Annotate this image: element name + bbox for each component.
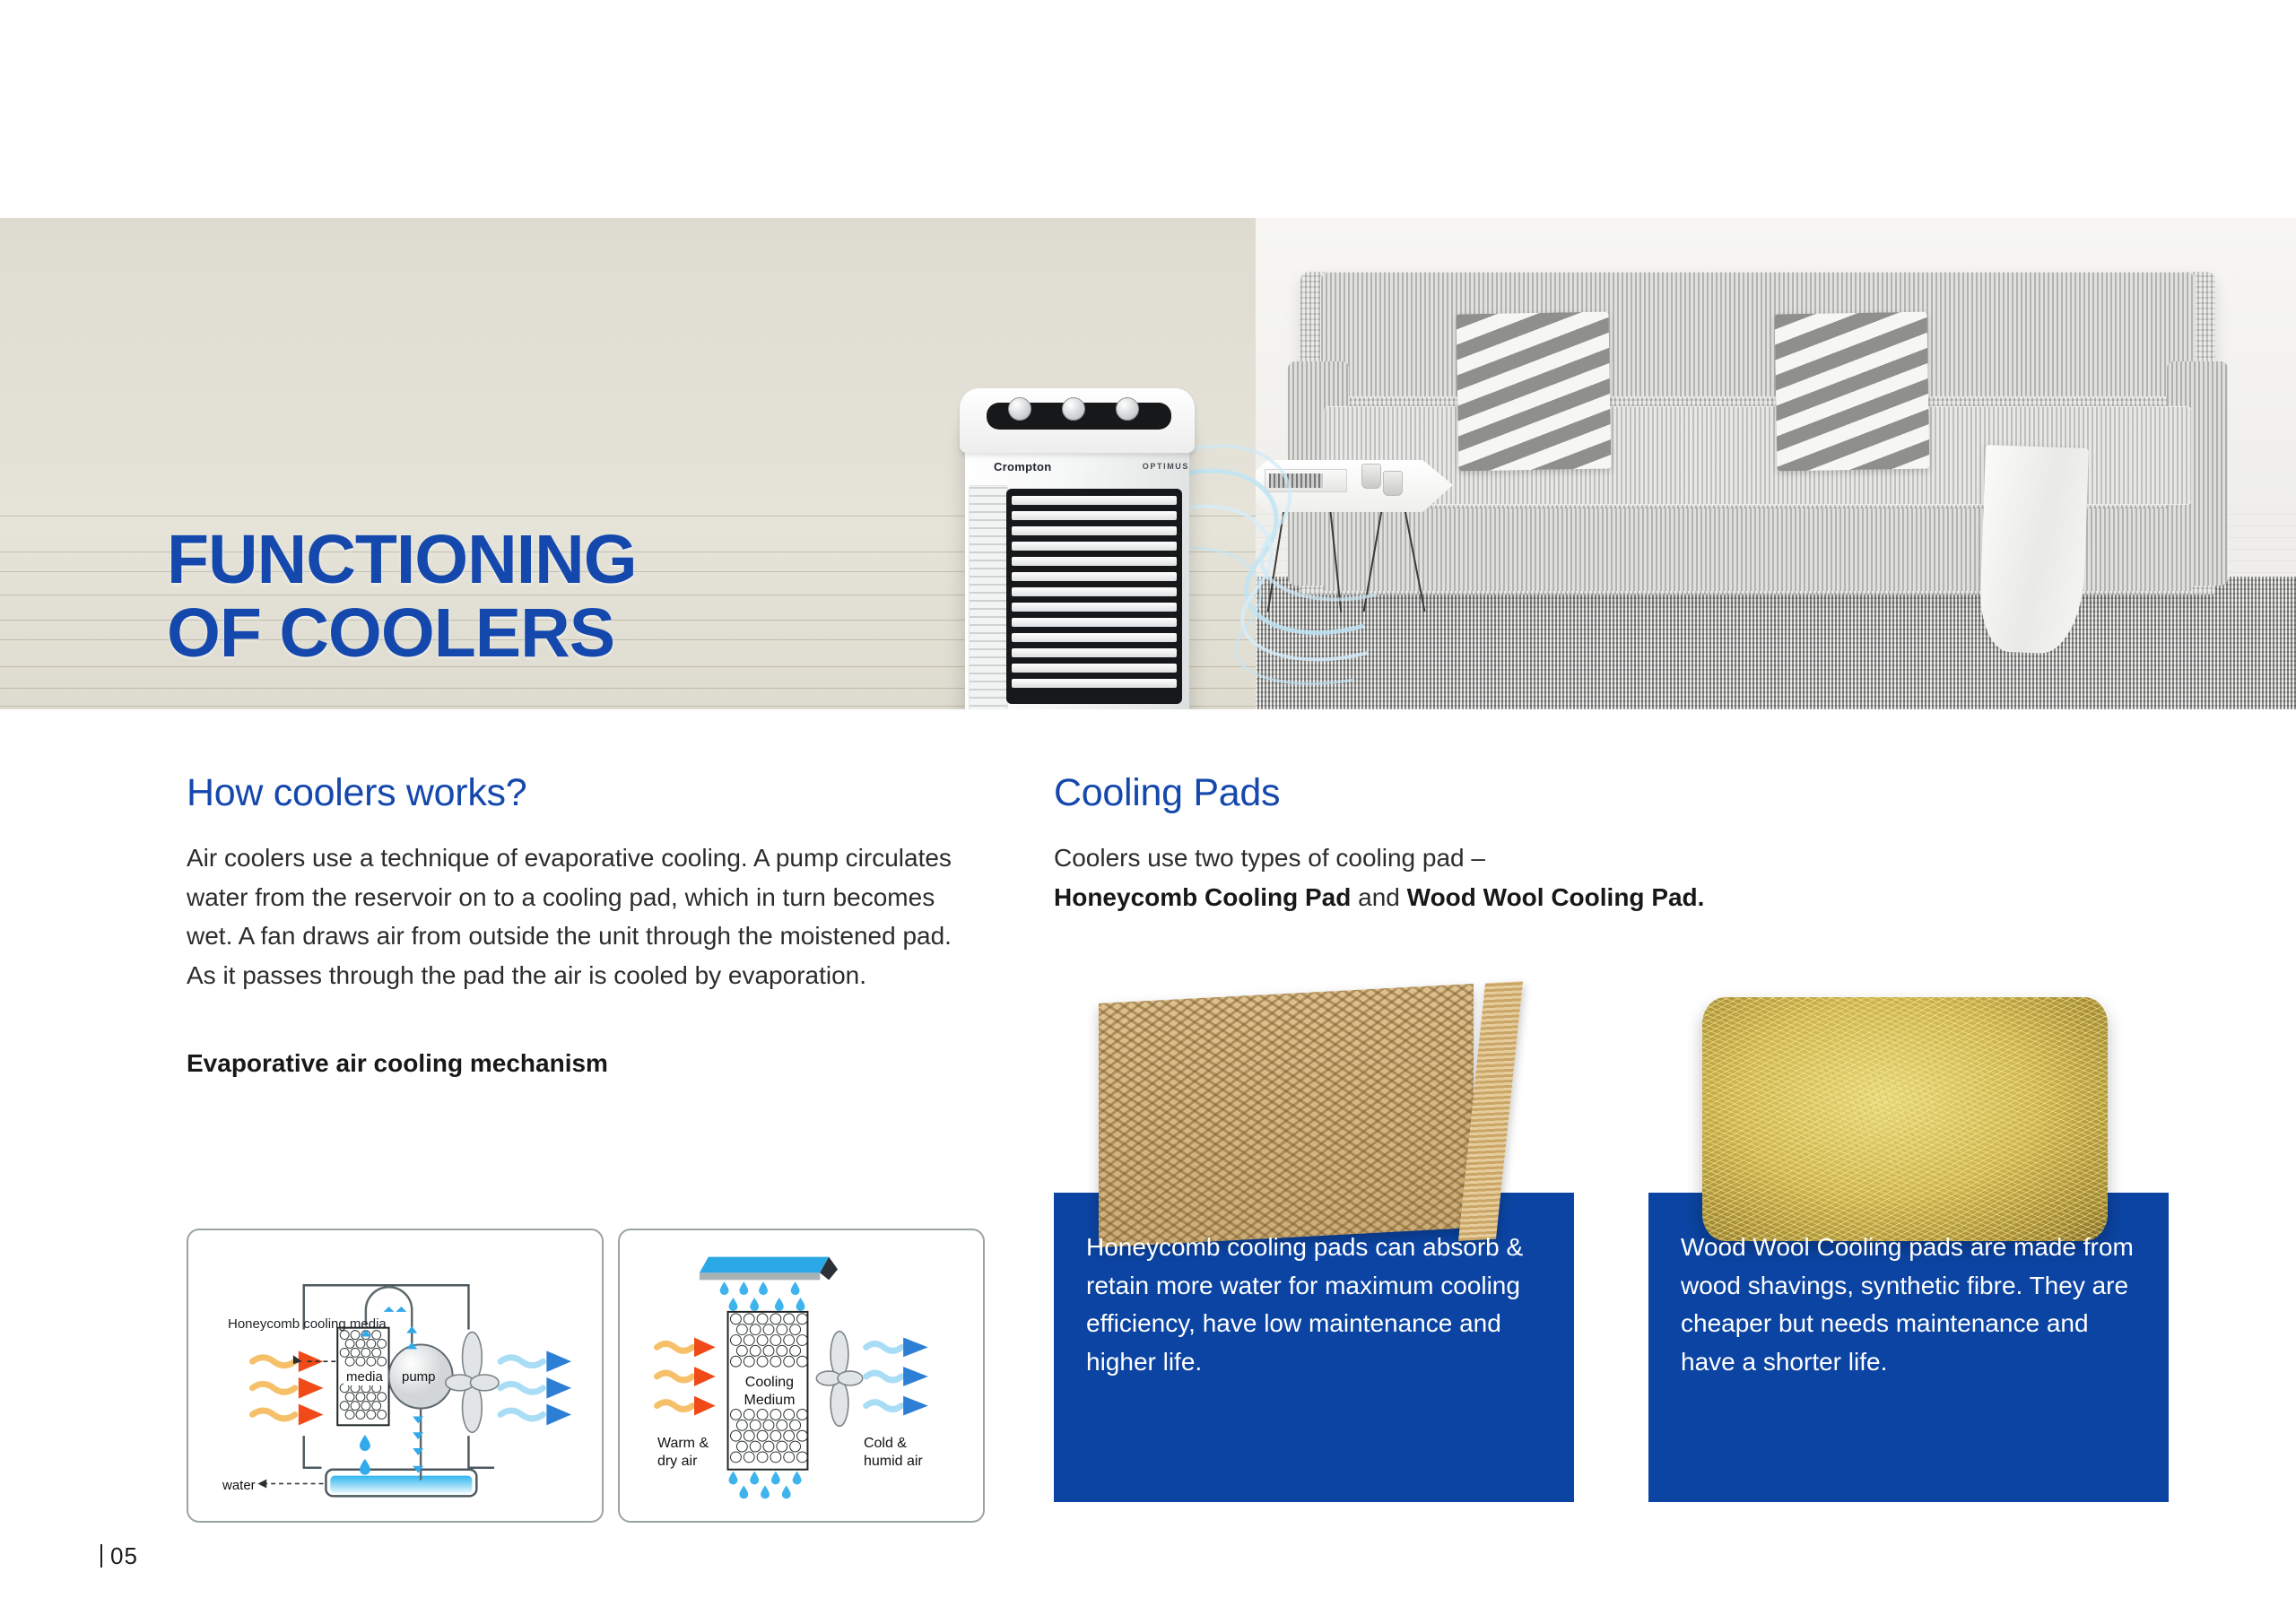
magazine	[1265, 469, 1347, 492]
cooler-grille	[1006, 489, 1182, 704]
evaporative-mechanism-subheading: Evaporative air cooling mechanism	[187, 1049, 967, 1078]
control-knob	[1008, 397, 1031, 421]
diagram-label-cold-humid-air: Cold & humid air	[864, 1435, 923, 1471]
sofa	[1300, 272, 2215, 595]
wood-wool-pad-type-label: Wood Wool Cooling Pad.	[1407, 883, 1705, 911]
living-room-photo	[1256, 218, 2296, 709]
page-number: 05	[100, 1542, 138, 1570]
page-title-line2: OF COOLERS	[167, 595, 614, 672]
cooling-medium-diagram: Cooling Medium Warm & dry air Cold & hum…	[618, 1229, 985, 1523]
diagram-group: Honeycomb cooling media media pump water	[187, 1229, 985, 1524]
honeycomb-pad-caption: Honeycomb cooling pads can absorb & reta…	[1086, 1229, 1549, 1381]
how-coolers-work-paragraph: Air coolers use a technique of evaporati…	[187, 838, 967, 995]
chevron-cushion	[1774, 312, 1929, 472]
diagram-label-cooling-medium: Cooling Medium	[738, 1374, 801, 1409]
cooling-pads-intro: Coolers use two types of cooling pad –	[1054, 838, 2193, 878]
honeycomb-cooling-pad-photo	[1091, 977, 1540, 1264]
evaporative-cooling-diagram: Honeycomb cooling media media pump water	[187, 1229, 604, 1523]
product-model-label: OPTIMUS	[1143, 462, 1189, 471]
wood-wool-cooling-pad-photo	[1686, 977, 2135, 1264]
diagram-label-honeycomb-cooling-media: Honeycomb cooling media	[228, 1316, 387, 1333]
page-title-line1: FUNCTIONING	[167, 521, 637, 598]
diagram-label-media: media	[344, 1368, 386, 1385]
chevron-cushion	[1456, 312, 1611, 472]
air-cooler-product-image: Crompton OPTIMUS	[924, 372, 1229, 709]
section-heading-how-coolers-work: How coolers works?	[187, 771, 967, 815]
wood-wool-pad-caption: Wood Wool Cooling pads are made from woo…	[1681, 1229, 2144, 1381]
page-number-value: 05	[110, 1542, 138, 1569]
control-knob	[1062, 397, 1085, 421]
cooling-pads-types: Honeycomb Cooling Pad and Wood Wool Cool…	[1054, 878, 2193, 917]
rug	[1256, 577, 2296, 709]
mug	[1383, 471, 1403, 496]
diagram-label-water: water	[222, 1478, 256, 1493]
hero-banner: Crompton OPTIMUS FUNCTIONING OF COOLERS …	[0, 218, 2296, 709]
mug	[1361, 464, 1381, 489]
throw-blanket	[1979, 445, 2089, 655]
diagram-label-pump: pump	[402, 1369, 436, 1385]
page-number-bar-icon	[100, 1544, 102, 1568]
section-heading-cooling-pads: Cooling Pads	[1054, 771, 2193, 815]
coffee-table	[1256, 460, 1453, 523]
product-brand-label: Crompton	[994, 460, 1052, 473]
types-conjunction: and	[1351, 883, 1406, 911]
cooling-pads-section: Cooling Pads Coolers use two types of co…	[1054, 771, 2193, 916]
how-coolers-work-section: How coolers works? Air coolers use a tec…	[187, 771, 967, 1078]
page-title: FUNCTIONING OF COOLERS	[167, 523, 637, 671]
honeycomb-pad-type-label: Honeycomb Cooling Pad	[1054, 883, 1351, 911]
diagram-label-warm-dry-air: Warm & dry air	[657, 1435, 709, 1471]
control-knob	[1116, 397, 1139, 421]
